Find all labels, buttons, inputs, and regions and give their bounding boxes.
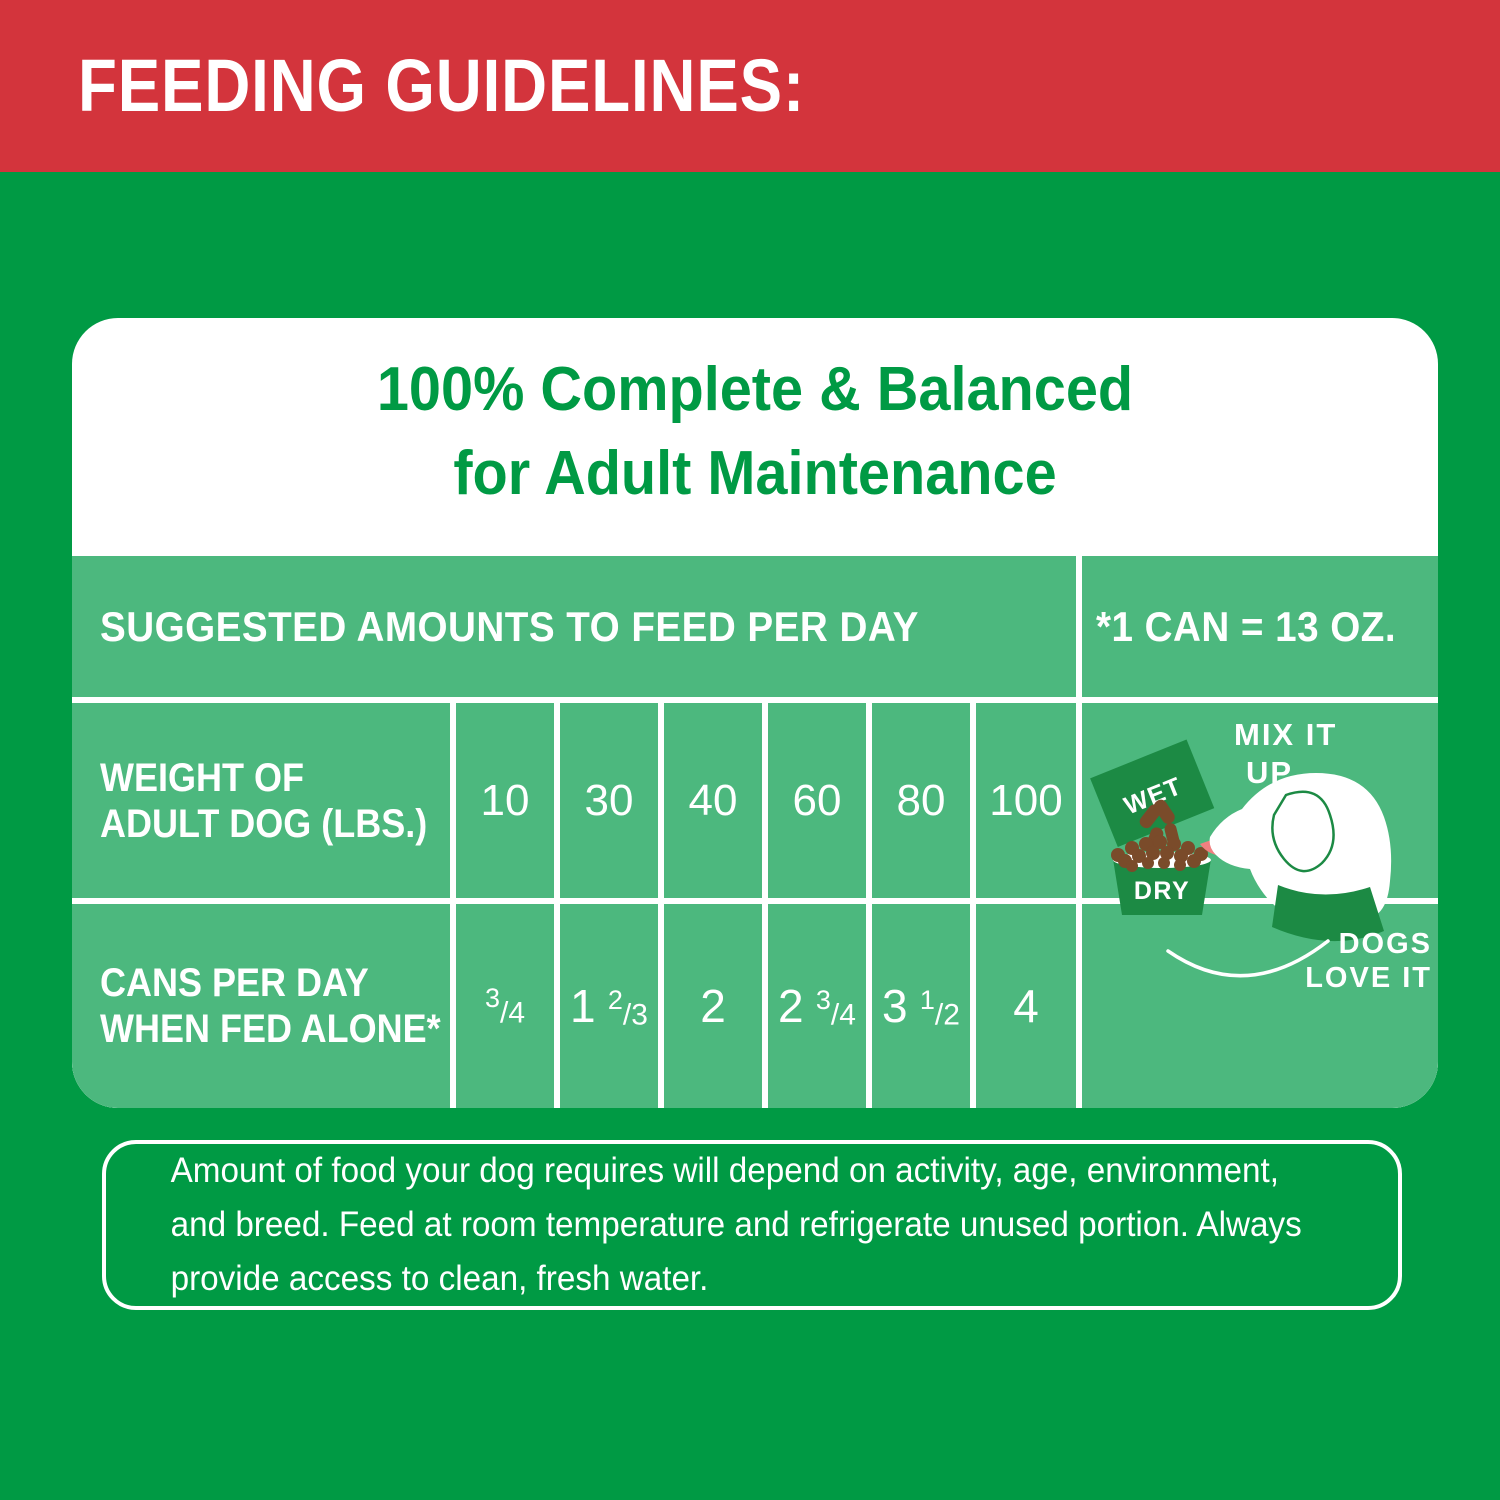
feeding-table: SUGGESTED AMOUNTS TO FEED PER DAY *1 CAN… [72, 556, 1438, 1108]
cans-label-line2: WHEN FED ALONE* [100, 1006, 441, 1052]
card-title-line2: for Adult Maintenance [120, 432, 1390, 516]
cans-label-cell: CANS PER DAY WHEN FED ALONE* [72, 904, 450, 1108]
cans-cell-5: 3 1/2 [872, 904, 970, 1108]
weight-value-4: 60 [793, 776, 842, 826]
feeding-card: 100% Complete & Balanced for Adult Maint… [72, 318, 1438, 1108]
card-title-line1: 100% Complete & Balanced [120, 348, 1390, 432]
weight-cell-4: 60 [768, 703, 866, 898]
swoosh-arc [1168, 941, 1328, 976]
weight-label-line1: WEIGHT OF [100, 755, 427, 801]
mix-it-up-illustration: WET [1082, 703, 1438, 1108]
weight-cell-1: 10 [456, 703, 554, 898]
weight-value-2: 30 [585, 776, 634, 826]
weight-value-3: 40 [689, 776, 738, 826]
cans-cell-2: 1 2/3 [560, 904, 658, 1108]
table-header-note-cell: *1 CAN = 13 OZ. [1082, 556, 1438, 697]
cans-cell-6: 4 [976, 904, 1076, 1108]
table-header-main-text: SUGGESTED AMOUNTS TO FEED PER DAY [100, 603, 919, 651]
header-band: FEEDING GUIDELINES: [0, 0, 1500, 172]
cans-value-3: 2 [700, 979, 726, 1033]
dry-bowl-label: DRY [1134, 877, 1190, 905]
weight-value-5: 80 [897, 776, 946, 826]
dogs-love-it-line1: DOGS [1339, 928, 1432, 960]
cans-label-line1: CANS PER DAY [100, 960, 441, 1006]
cans-value-6: 4 [1013, 979, 1039, 1033]
can-size-note: *1 CAN = 13 OZ. [1096, 603, 1396, 651]
footnote-box: Amount of food your dog requires will de… [102, 1140, 1402, 1310]
cans-value-5: 3 1/2 [882, 979, 960, 1033]
weight-label-cell: WEIGHT OF ADULT DOG (LBS.) [72, 703, 450, 898]
footnote-text: Amount of food your dog requires will de… [138, 1144, 1365, 1306]
cans-value-1: 3/4 [485, 981, 525, 1031]
mix-it-up-line2: UP [1246, 755, 1293, 790]
table-header-main-cell: SUGGESTED AMOUNTS TO FEED PER DAY [72, 556, 1076, 697]
cans-value-2: 1 2/3 [570, 979, 648, 1033]
weight-label: WEIGHT OF ADULT DOG (LBS.) [100, 755, 427, 847]
weight-cell-3: 40 [664, 703, 762, 898]
cans-cell-3: 2 [664, 904, 762, 1108]
mix-it-up-line1: MIX IT [1234, 717, 1337, 752]
card-title: 100% Complete & Balanced for Adult Maint… [120, 348, 1390, 516]
page-title: FEEDING GUIDELINES: [78, 44, 805, 128]
cans-value-4: 2 3/4 [778, 979, 856, 1033]
dog-head [1210, 773, 1392, 941]
weight-cell-6: 100 [976, 703, 1076, 898]
weight-cell-5: 80 [872, 703, 970, 898]
cans-cell-1: 3/4 [456, 904, 554, 1108]
cans-cell-4: 2 3/4 [768, 904, 866, 1108]
weight-value-1: 10 [481, 776, 530, 826]
cans-label: CANS PER DAY WHEN FED ALONE* [100, 960, 441, 1052]
weight-cell-2: 30 [560, 703, 658, 898]
dry-bowl: DRY [1111, 835, 1211, 915]
weight-value-6: 100 [989, 776, 1062, 826]
dogs-love-it-line2: LOVE IT [1305, 962, 1432, 994]
weight-label-line2: ADULT DOG (LBS.) [100, 801, 427, 847]
table-header-row: SUGGESTED AMOUNTS TO FEED PER DAY *1 CAN… [72, 556, 1438, 697]
